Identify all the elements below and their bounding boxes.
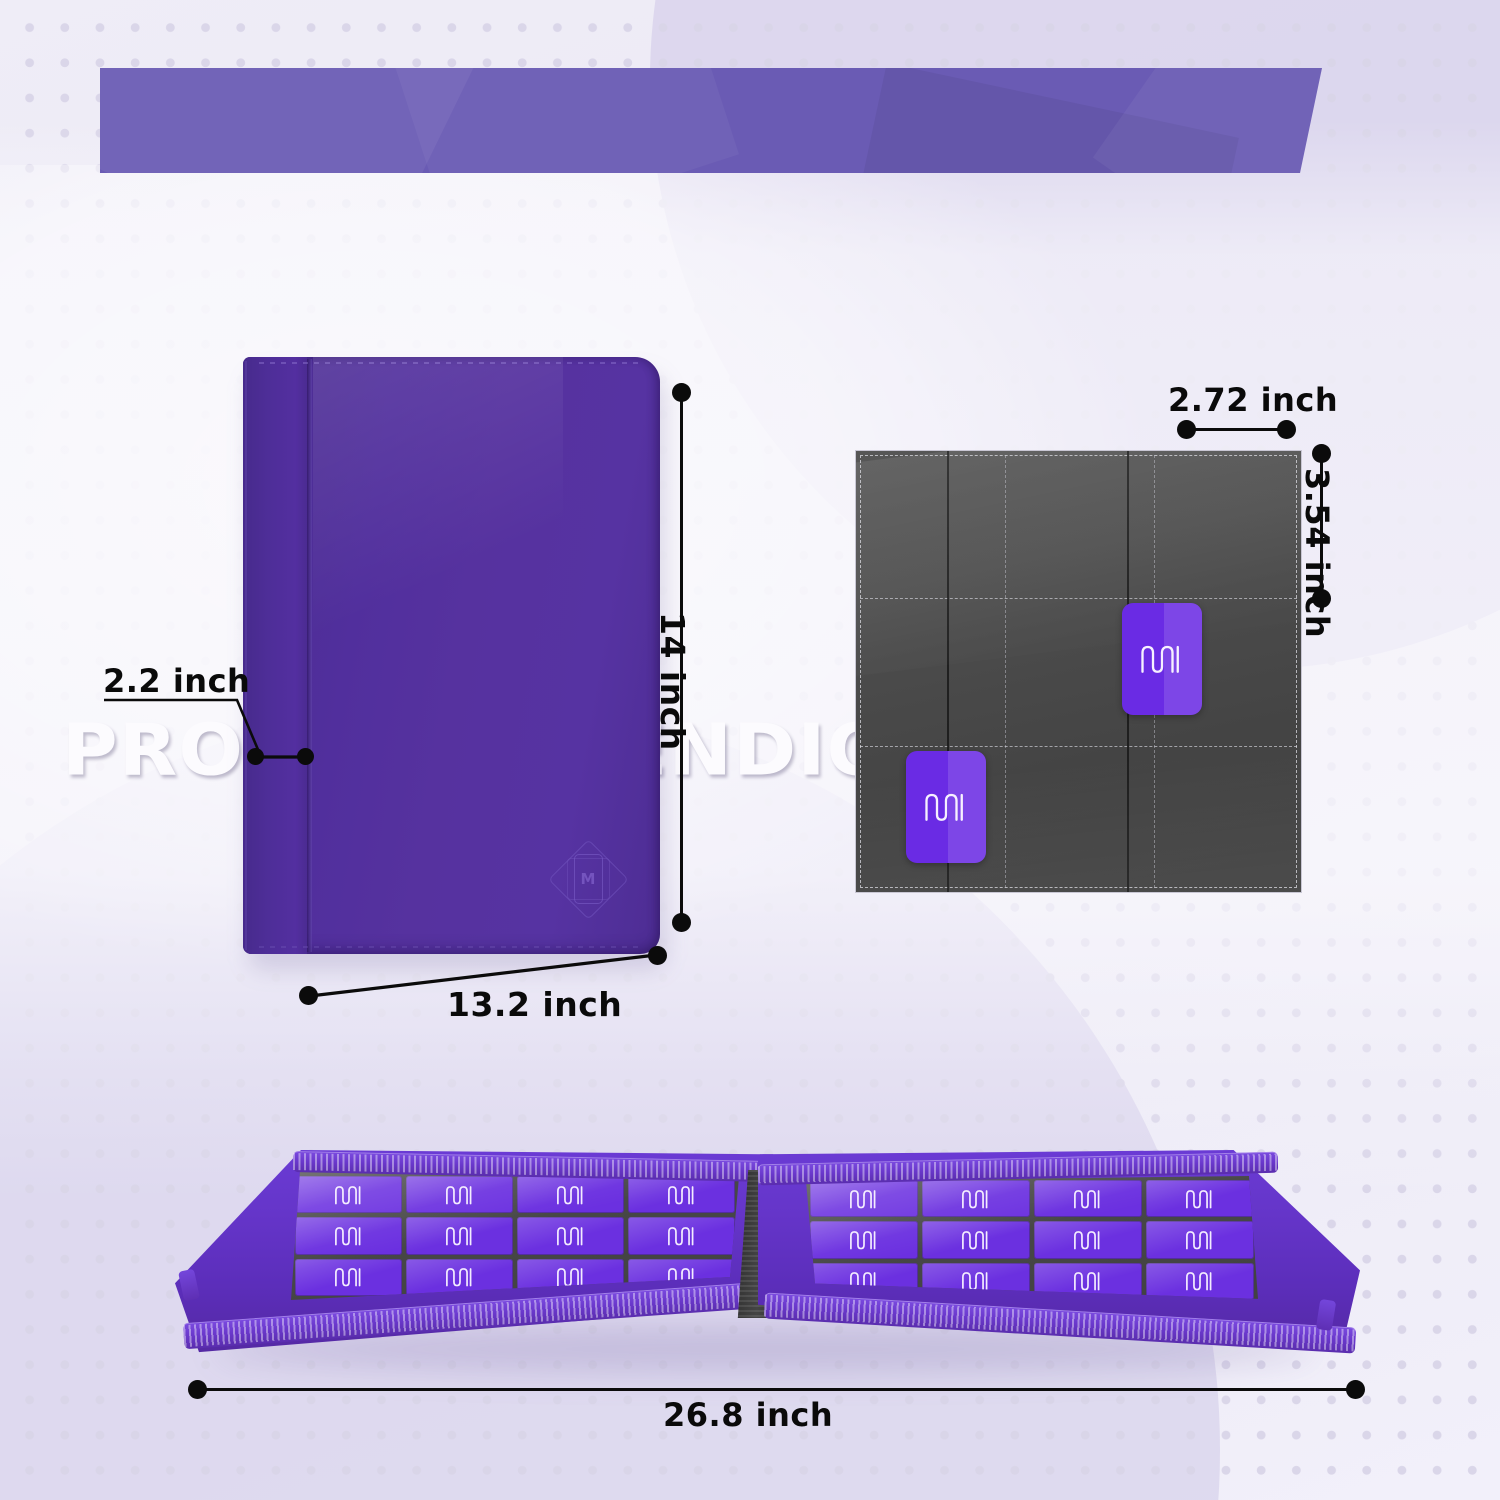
card-sheen: [922, 1180, 1030, 1217]
card-sheen: [295, 1176, 402, 1213]
card-sheen: [628, 1176, 735, 1213]
right-page-sleeve: [806, 1176, 1258, 1304]
pocket-width-endpoint-right: [1277, 420, 1296, 439]
card-pocket-cell: [810, 1180, 918, 1217]
card-sheen: [517, 1217, 624, 1254]
card-pocket-cell: [1146, 1180, 1254, 1217]
card-sheen: [1146, 1221, 1254, 1258]
right-page-card-grid: [806, 1176, 1258, 1304]
pocket-width-dimension-line: [1186, 428, 1286, 431]
card-sheen: [295, 1217, 402, 1254]
card-pocket-cell: [810, 1221, 918, 1258]
open-width-endpoint-right: [1346, 1380, 1365, 1399]
card-pocket-cell: [295, 1217, 402, 1254]
card-pocket-cell: [628, 1176, 735, 1213]
card-sheen: [406, 1176, 513, 1213]
card-pocket-cell: [295, 1176, 402, 1213]
pocket-width-dimension-label: 2.72 inch: [1168, 381, 1338, 419]
open-binder-left-page: [175, 1150, 775, 1365]
card-pocket-cell: [922, 1221, 1030, 1258]
card-sleeve-sheen: [1164, 603, 1202, 715]
inserted-card-middle-right: [1122, 603, 1202, 715]
open-width-endpoint-left: [188, 1380, 207, 1399]
card-pocket-cell: [406, 1217, 513, 1254]
card-pocket-cell: [1146, 1263, 1254, 1300]
card-pocket-cell: [517, 1217, 624, 1254]
card-pocket-cell: [517, 1176, 624, 1213]
open-width-dimension-label: 26.8 inch: [663, 1396, 833, 1434]
open-binder-illustration: [175, 1150, 1360, 1375]
card-pocket-cell: [1034, 1180, 1142, 1217]
card-pocket-cell: [1146, 1221, 1254, 1258]
thickness-dimension-label: 2.2 inch: [103, 662, 250, 700]
card-sheen: [406, 1217, 513, 1254]
inserted-card-bottom-left: [906, 751, 986, 863]
card-sheen: [1146, 1180, 1254, 1217]
card-pocket-cell: [628, 1217, 735, 1254]
card-sheen: [1034, 1221, 1142, 1258]
open-width-dimension-line: [197, 1388, 1355, 1391]
open-binder-right-page: [758, 1150, 1360, 1365]
card-pocket-cell: [922, 1180, 1030, 1217]
card-sheen: [295, 1259, 402, 1296]
thickness-endpoint-left: [247, 748, 264, 765]
card-sheen: [628, 1217, 735, 1254]
card-sheen: [922, 1221, 1030, 1258]
pocket-width-endpoint-left: [1177, 420, 1196, 439]
card-sleeve-sheen: [948, 751, 986, 863]
pocket-height-endpoint-top: [1312, 444, 1331, 463]
card-pocket-panel: [855, 450, 1302, 893]
card-sheen: [810, 1180, 918, 1217]
card-sheen: [517, 1176, 624, 1213]
card-sheen: [1034, 1180, 1142, 1217]
card-pocket-cell: [406, 1176, 513, 1213]
card-sheen: [810, 1221, 918, 1258]
card-pocket-cell: [1034, 1221, 1142, 1258]
card-sheen: [1146, 1263, 1254, 1300]
pocket-height-dimension-label: 3.54 inch: [1298, 468, 1336, 638]
thickness-endpoint-right: [297, 748, 314, 765]
card-pocket-cell: [295, 1259, 402, 1296]
